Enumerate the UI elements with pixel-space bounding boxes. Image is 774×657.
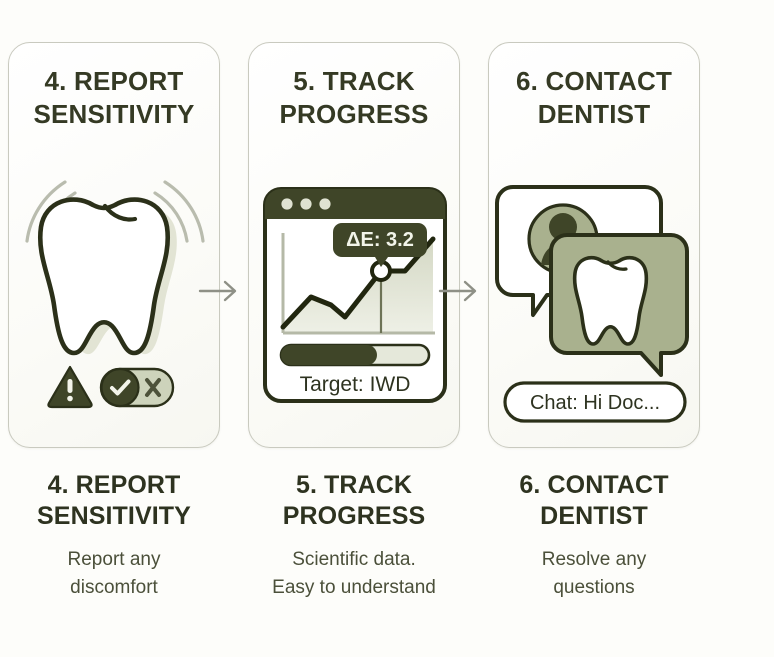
step-card-track-progress[interactable]: 5. TRACK PROGRESS [248, 42, 460, 448]
caption-track-progress: 5. TRACK PROGRESS Scientific data. Easy … [248, 470, 460, 602]
arrow-step5-to-step6 [438, 279, 484, 303]
window-dot-icon [319, 198, 330, 209]
arrow-step4-to-step5 [198, 279, 244, 303]
caption-contact-dentist: 6. CONTACT DENTIST Resolve any questions [488, 470, 700, 602]
warning-triangle-icon [48, 367, 91, 407]
chart-tooltip-label: ΔE: 3.2 [346, 229, 414, 251]
chat-pill-label: Chat: Hi Doc... [530, 392, 660, 414]
caption-title: 5. TRACK PROGRESS [248, 470, 460, 532]
step-card-contact-dentist[interactable]: 6. CONTACT DENTIST [488, 42, 700, 448]
browser-chart-illustration: ΔE: 3.2 Target: IWD [249, 161, 459, 439]
caption-title: 4. REPORT SENSITIVITY [8, 470, 220, 532]
captions-row: 4. REPORT SENSITIVITY Report any discomf… [0, 470, 774, 602]
progress-bar-label: Target: IWD [300, 373, 411, 396]
progress-bar-fill [281, 345, 377, 365]
tooth-sensitivity-illustration [9, 161, 219, 439]
caption-description: Scientific data. Easy to understand [248, 546, 460, 602]
caption-title: 6. CONTACT DENTIST [488, 470, 700, 532]
step-card-report-sensitivity[interactable]: 4. REPORT SENSITIVITY [8, 42, 220, 448]
progress-bar [281, 345, 429, 365]
toggle-check-x-icon [101, 369, 173, 406]
chat-bubbles-illustration: Chat: Hi Doc... [489, 161, 699, 439]
caption-description: Report any discomfort [8, 546, 220, 602]
window-dot-icon [281, 198, 292, 209]
speech-bubble-icon [551, 235, 687, 375]
step-card-title: 6. CONTACT DENTIST [489, 65, 699, 131]
chat-pill: Chat: Hi Doc... [505, 383, 685, 421]
step-card-title: 4. REPORT SENSITIVITY [9, 65, 219, 131]
caption-report-sensitivity: 4. REPORT SENSITIVITY Report any discomf… [8, 470, 220, 602]
window-dot-icon [300, 198, 311, 209]
step-card-title: 5. TRACK PROGRESS [249, 65, 459, 131]
steps-row: 4. REPORT SENSITIVITY [0, 42, 774, 450]
caption-description: Resolve any questions [488, 546, 700, 602]
